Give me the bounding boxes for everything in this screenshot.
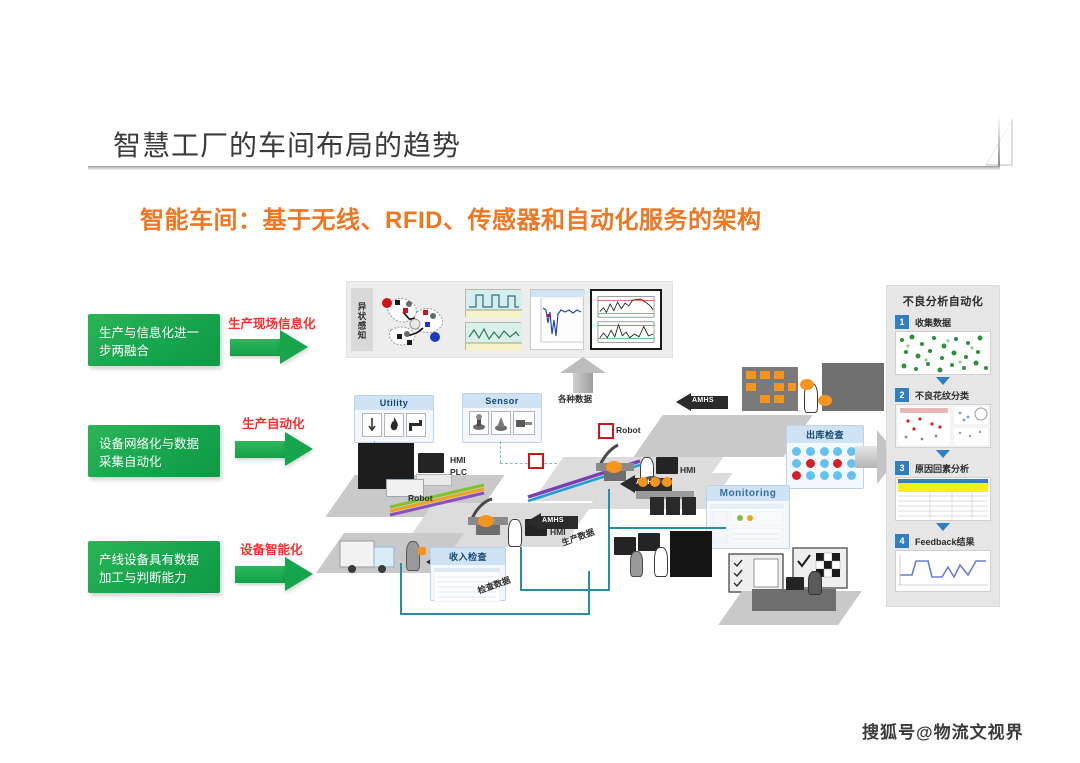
power-icon (362, 413, 382, 437)
amhs-arrow-head-icon (676, 393, 691, 411)
flow-box-1-line2: 步两融合 (99, 342, 209, 360)
step-1-image (895, 331, 991, 375)
outbound-inspection-card: 出库检查 (786, 425, 864, 489)
utility-card: Utility (354, 395, 434, 443)
outbound-dot-grid (787, 443, 863, 484)
factory-architecture-illustration: 异状感知 (330, 275, 890, 625)
dot (833, 471, 842, 480)
network-graph-icon (377, 290, 455, 350)
water-tap-icon (406, 413, 426, 437)
utility-card-title: Utility (355, 396, 433, 410)
step-2-label: 不良花纹分类 (915, 389, 969, 402)
dot (806, 447, 815, 456)
arrow-shaft (235, 566, 287, 583)
monitoring-screenshot (710, 504, 784, 546)
dot (820, 459, 829, 468)
analysis-step-3: 3 原因回素分析 (895, 461, 991, 521)
thumbnail-step-signal-chart (465, 289, 521, 317)
office-monitor (786, 577, 804, 590)
dot (820, 447, 829, 456)
feedback-line-chart (896, 551, 990, 591)
sensor-connector-v (500, 441, 502, 463)
worker-person-1 (406, 541, 420, 571)
robot-label-1: Robot (408, 493, 433, 503)
flow-arrow-label-2: 生产自动化 (242, 413, 305, 432)
page-fold-edge (998, 116, 1000, 166)
thumbnail-temperature-trend-chart (530, 289, 584, 350)
rfid-tag-2 (598, 423, 614, 439)
inbound-inspection-title: 收入检查 (431, 548, 505, 565)
defect-pattern-tiles (896, 405, 990, 447)
anomaly-dashboard-label: 异状感知 (351, 288, 373, 351)
arrow-shaft (235, 441, 287, 458)
slide-canvas: 智慧工厂的车间布局的趋势 智能车间：基于无线、RFID、传感器和自动化服务的架构… (0, 0, 1080, 763)
delivery-truck-icon (338, 533, 404, 577)
dot (792, 447, 801, 456)
warehouse-rack-2 (822, 363, 884, 411)
engineer-person-1 (630, 551, 643, 577)
warehouse-item-1 (800, 379, 814, 390)
step-4-image (895, 550, 991, 592)
handheld-scanner-icon (418, 547, 426, 555)
dot (806, 471, 815, 480)
page-title: 智慧工厂的车间布局的趋势 (113, 124, 461, 164)
dot (820, 471, 829, 480)
step-arrow-2-3 (936, 450, 950, 458)
arrow-head-icon (280, 330, 308, 364)
thumbnail-spc-control-chart (590, 289, 662, 350)
operator-person-1 (508, 519, 522, 547)
step-1-label: 收集数据 (915, 316, 951, 329)
flow-box-3: 产线设备具有数据 加工与判断能力 (88, 541, 220, 593)
analysis-step-2: 2 不良花纹分类 (895, 388, 991, 448)
rfid-tag-1 (528, 453, 544, 469)
dot-defect (833, 459, 842, 468)
office-person (808, 571, 822, 595)
flow-box-2: 设备网络化与数据 采集自动化 (88, 425, 220, 477)
flow-box-3-line2: 加工与判断能力 (99, 569, 209, 587)
network-line-5 (400, 563, 402, 615)
step-3-image (895, 477, 991, 521)
plc-label-1: PLC (450, 467, 467, 477)
rack-slots-icon (742, 367, 798, 411)
title-divider (88, 166, 1000, 170)
package-1 (638, 477, 648, 487)
watermark: 搜狐号@物流文视界 (862, 718, 1024, 743)
outbound-inspection-title: 出库检查 (787, 426, 863, 443)
amhs-label-4: AMHS (692, 397, 714, 404)
flow-arrow-3 (235, 557, 313, 591)
step-4-label: Feedback结果 (915, 535, 975, 548)
sensor-card: Sensor (462, 393, 542, 443)
network-line-3 (608, 489, 610, 591)
dot (792, 459, 801, 468)
defect-analysis-panel: 不良分析自动化 1 收集数据 (886, 285, 1000, 607)
thumbnail-wave-signal-chart (465, 322, 521, 350)
network-line-2 (520, 589, 610, 591)
analysis-step-4: 4 Feedback结果 (895, 534, 991, 592)
package-2 (650, 477, 660, 487)
step-1-number: 1 (895, 315, 909, 329)
anomaly-dashboard-panel: 异状感知 (346, 281, 673, 358)
various-data-label: 各种数据 (558, 393, 592, 405)
hmi-monitor-1 (418, 453, 444, 473)
sensor-device-icon (491, 411, 511, 435)
network-line-6 (400, 613, 590, 615)
amhs-arrow-head-icon (526, 513, 541, 531)
monitoring-card-title: Monitoring (707, 486, 789, 501)
flow-box-1-line1: 生产与信息化进一 (99, 324, 209, 342)
sensor-card-title: Sensor (463, 394, 541, 408)
sensor-device-icon (469, 411, 489, 435)
warehouse-item-2 (818, 395, 832, 406)
inbound-inspection-card: 收入检查 (430, 547, 506, 601)
arrow-shaft (230, 339, 282, 356)
step-3-number: 3 (895, 461, 909, 475)
dot (833, 447, 842, 456)
arrow-head-icon (285, 557, 313, 591)
flow-arrow-label-3: 设备智能化 (240, 539, 303, 558)
amhs-arrow-1: AMHS (526, 513, 578, 532)
flow-arrow-2 (235, 432, 313, 466)
gas-flame-icon (384, 413, 404, 437)
network-line-7 (588, 571, 590, 615)
dot-defect (792, 471, 801, 480)
workpiece-1 (478, 515, 494, 527)
step-3-label: 原因回素分析 (915, 462, 969, 475)
server-rack (670, 531, 712, 577)
flow-arrow-1 (230, 330, 308, 364)
highlight-table-chart (896, 478, 990, 520)
subtitle: 智能车间：基于无线、RFID、传感器和自动化服务的架构 (140, 200, 762, 235)
amhs-arrow-4: AMHS (676, 393, 728, 412)
flow-box-3-line1: 产线设备具有数据 (99, 551, 209, 569)
office-desk (752, 589, 836, 611)
flow-box-2-line1: 设备网络化与数据 (99, 435, 209, 453)
engineer-person-2 (654, 547, 668, 577)
network-line-4 (608, 527, 726, 529)
package-3 (662, 477, 672, 487)
workpiece-2 (606, 461, 622, 473)
step-arrow-1-2 (936, 377, 950, 385)
sensor-camera-icon (513, 411, 535, 435)
flow-box-1: 生产与信息化进一 步两融合 (88, 314, 220, 366)
robot-label-2: Robot (616, 425, 641, 435)
arrow-head-icon (285, 432, 313, 466)
analysis-step-1: 1 收集数据 (895, 315, 991, 375)
defect-analysis-title: 不良分析自动化 (887, 286, 999, 315)
network-line-1 (520, 547, 522, 591)
dot-defect (806, 459, 815, 468)
flow-box-2-line2: 采集自动化 (99, 453, 209, 471)
hmi-label-1: HMI (450, 455, 466, 465)
step-4-number: 4 (895, 534, 909, 548)
data-upward-arrow (560, 357, 606, 393)
step-2-image (895, 404, 991, 448)
monitoring-card: Monitoring (706, 485, 790, 549)
scatter-dots-chart (896, 332, 990, 374)
amhs-label-1: AMHS (542, 517, 564, 524)
step-2-number: 2 (895, 388, 909, 402)
step-arrow-3-4 (936, 523, 950, 531)
